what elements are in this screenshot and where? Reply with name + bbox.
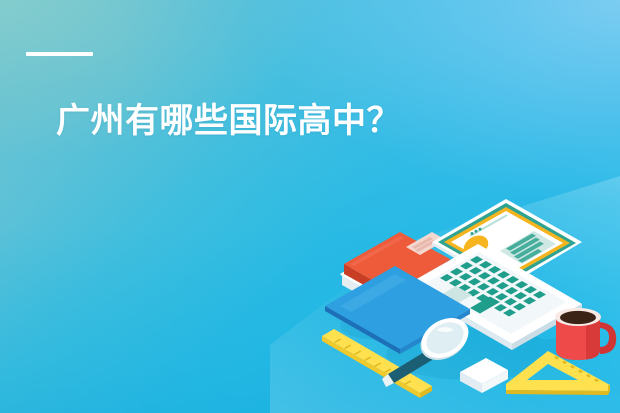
isometric-study-desk-illustration <box>320 178 620 413</box>
promo-banner: 广州有哪些国际高中？ <box>0 0 620 413</box>
title-divider-rule <box>26 52 93 56</box>
page-title: 广州有哪些国际高中？ <box>56 101 401 141</box>
coffee-mug <box>555 308 616 360</box>
